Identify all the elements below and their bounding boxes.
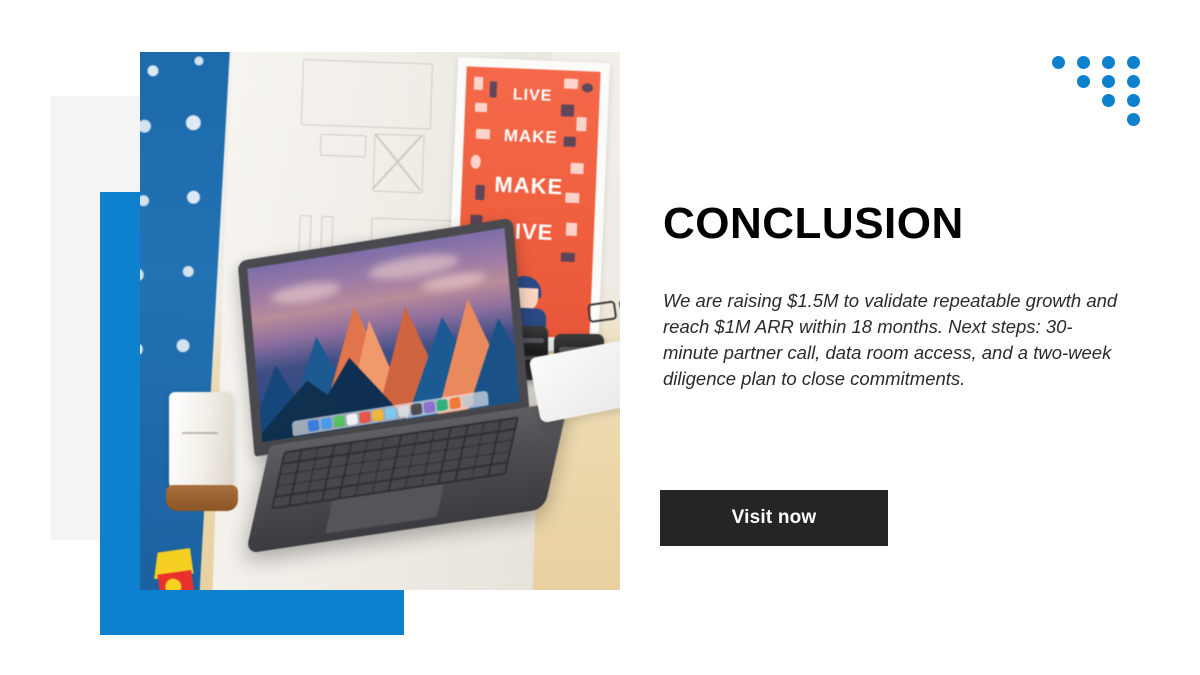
- logo-dot: [1102, 75, 1115, 88]
- logo-dot: [1102, 56, 1115, 69]
- slide-canvas: LIVE MAKE MAKE LIVE: [0, 0, 1200, 675]
- desk-workspace-photo: LIVE MAKE MAKE LIVE: [140, 52, 620, 590]
- logo-dot: [1127, 75, 1140, 88]
- toy-blocks: [150, 547, 203, 590]
- photo-scene: LIVE MAKE MAKE LIVE: [140, 52, 620, 590]
- logo-dot: [1102, 94, 1115, 107]
- page-title: CONCLUSION: [663, 200, 1133, 248]
- logo-dot: [1127, 94, 1140, 107]
- logo-dot: [1077, 56, 1090, 69]
- macbook-laptop: [227, 220, 565, 567]
- visit-now-button[interactable]: Visit now: [660, 490, 888, 546]
- logo-dot: [1127, 113, 1140, 126]
- coffee-mug: [166, 392, 240, 514]
- logo-dot: [1052, 56, 1065, 69]
- laptop-screen: [247, 228, 519, 442]
- content-column: CONCLUSION We are raising $1.5M to valid…: [663, 200, 1133, 392]
- body-paragraph: We are raising $1.5M to validate repeata…: [663, 248, 1125, 392]
- logo-dot: [1077, 75, 1090, 88]
- dot-staircase-logo: [1052, 50, 1148, 120]
- logo-dot: [1127, 56, 1140, 69]
